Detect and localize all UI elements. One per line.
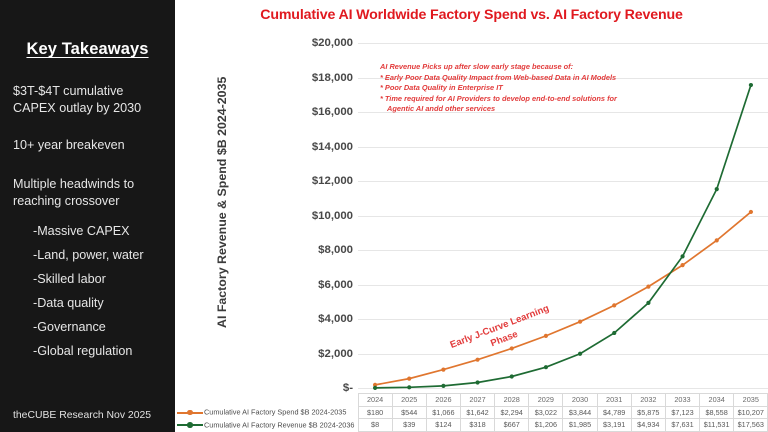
headwind-item-data-quality: -Data quality [33,295,173,311]
annotation-line-3: * Time required for AI Providers to deve… [380,94,670,105]
table-cell: $667 [495,419,529,432]
table-cell: $5,875 [631,406,665,419]
table-cell: $3,844 [563,406,597,419]
legend-label: Cumulative AI Factory Revenue $B 2024-20… [204,421,354,430]
y-axis-tick-label: $2,000 [233,348,353,360]
y-axis-tick-label: $12,000 [233,175,353,187]
table-cell: $7,631 [665,419,699,432]
y-axis-tick-label: $16,000 [233,106,353,118]
table-col-header: 2026 [426,394,460,407]
table-col-header: 2028 [495,394,529,407]
y-axis-tick-label: $14,000 [233,141,353,153]
series-line-revenue [375,85,751,388]
takeaway-capex: $3T-$4T cumulative CAPEX outlay by 2030 [13,83,165,116]
table-cell: $8 [358,419,392,432]
table-cell: $124 [426,419,460,432]
y-axis-tick-label: $6,000 [233,279,353,291]
data-point [510,346,514,350]
series-line-spend [375,212,751,385]
data-point [578,320,582,324]
key-takeaways-panel: Key Takeaways $3T-$4T cumulative CAPEX o… [0,0,175,432]
chart-title: Cumulative AI Worldwide Factory Spend vs… [175,7,768,23]
data-point [646,301,650,305]
table-header-row: 2024202520262027202820292030203120322033… [175,394,768,407]
table-cell: $3,022 [529,406,563,419]
table-cell: $39 [392,419,426,432]
table-cell: $1,642 [460,406,494,419]
data-point [407,385,411,389]
table-col-header: 2031 [597,394,631,407]
gridline [358,388,768,389]
headwind-item-skilled-labor: -Skilled labor [33,271,173,287]
y-axis-tick-label: $8,000 [233,244,353,256]
table-col-header: 2030 [563,394,597,407]
table-cell: $2,294 [495,406,529,419]
legend-swatch-icon [177,421,203,429]
table-col-header: 2035 [734,394,768,407]
legend-entry[interactable]: Cumulative AI Factory Revenue $B 2024-20… [175,419,358,432]
headwind-item-governance: -Governance [33,319,173,335]
table-cell: $544 [392,406,426,419]
y-axis-tick-label: $20,000 [233,37,353,49]
table-row: Cumulative AI Factory Revenue $B 2024-20… [175,419,768,432]
data-point [612,331,616,335]
table-col-header: 2024 [358,394,392,407]
key-takeaways-title: Key Takeaways [0,40,175,59]
table-col-header: 2033 [665,394,699,407]
data-point [373,386,377,390]
headwind-item-land-power-water: -Land, power, water [33,247,173,263]
data-point [749,210,753,214]
table-cell: $1,985 [563,419,597,432]
table-row: Cumulative AI Factory Spend $B 2024-2035… [175,406,768,419]
takeaway-headwinds: Multiple headwinds to reaching crossover [13,176,165,209]
table-cell: $1,066 [426,406,460,419]
table-corner-cell [175,394,358,407]
data-point [715,238,719,242]
table-col-header: 2034 [700,394,734,407]
source-footer: theCUBE Research Nov 2025 [13,410,173,421]
table-cell: $8,558 [700,406,734,419]
table-cell: $4,934 [631,419,665,432]
headwind-item-massive-capex: -Massive CAPEX [33,223,173,239]
table-col-header: 2032 [631,394,665,407]
y-axis-tick-label: $10,000 [233,210,353,222]
table-cell: $10,207 [734,406,768,419]
legend-swatch-icon [177,409,203,417]
table-cell: $17,563 [734,419,768,432]
y-axis-tick-label: $4,000 [233,313,353,325]
slide-root: Key Takeaways $3T-$4T cumulative CAPEX o… [0,0,768,432]
annotation-line-0: AI Revenue Picks up after slow early sta… [380,62,670,73]
takeaway-breakeven: 10+ year breakeven [13,137,165,154]
data-point [578,352,582,356]
annotation-line-2: * Poor Data Quality in Enterprise IT [380,83,670,94]
legend-label: Cumulative AI Factory Spend $B 2024-2035 [204,408,346,417]
headwind-item-global-regulation: -Global regulation [33,343,173,359]
data-point [544,365,548,369]
data-point [475,380,479,384]
table-cell: $4,789 [597,406,631,419]
annotation-line-1: * Early Poor Data Quality Impact from We… [380,73,670,84]
data-point [475,358,479,362]
table-col-header: 2029 [529,394,563,407]
chart-region: Cumulative AI Worldwide Factory Spend vs… [175,0,768,432]
data-point [544,334,548,338]
data-point [715,187,719,191]
table-body: Cumulative AI Factory Spend $B 2024-2035… [175,406,768,431]
table-cell: $1,206 [529,419,563,432]
y-axis-tick-label: $18,000 [233,72,353,84]
table-cell: $11,531 [700,419,734,432]
data-point [441,384,445,388]
data-table-wrap: 2024202520262027202820292030203120322033… [175,393,768,430]
table-cell: $180 [358,406,392,419]
table-col-header: 2027 [460,394,494,407]
data-point [680,263,684,267]
table-col-header: 2025 [392,394,426,407]
table-cell: $3,191 [597,419,631,432]
data-point [612,303,616,307]
data-point [407,377,411,381]
table-cell: $318 [460,419,494,432]
revenue-annotation: AI Revenue Picks up after slow early sta… [380,62,670,115]
legend-entry[interactable]: Cumulative AI Factory Spend $B 2024-2035 [175,406,358,419]
data-point [510,374,514,378]
annotation-line-4: Agentic AI andd other services [380,104,670,115]
data-point [749,83,753,87]
data-table: 2024202520262027202820292030203120322033… [175,393,768,432]
data-point [646,285,650,289]
table-cell: $7,123 [665,406,699,419]
y-axis-title: AI Factory Revenue & Spend $B 2024-2035 [215,78,229,328]
data-point [680,254,684,258]
